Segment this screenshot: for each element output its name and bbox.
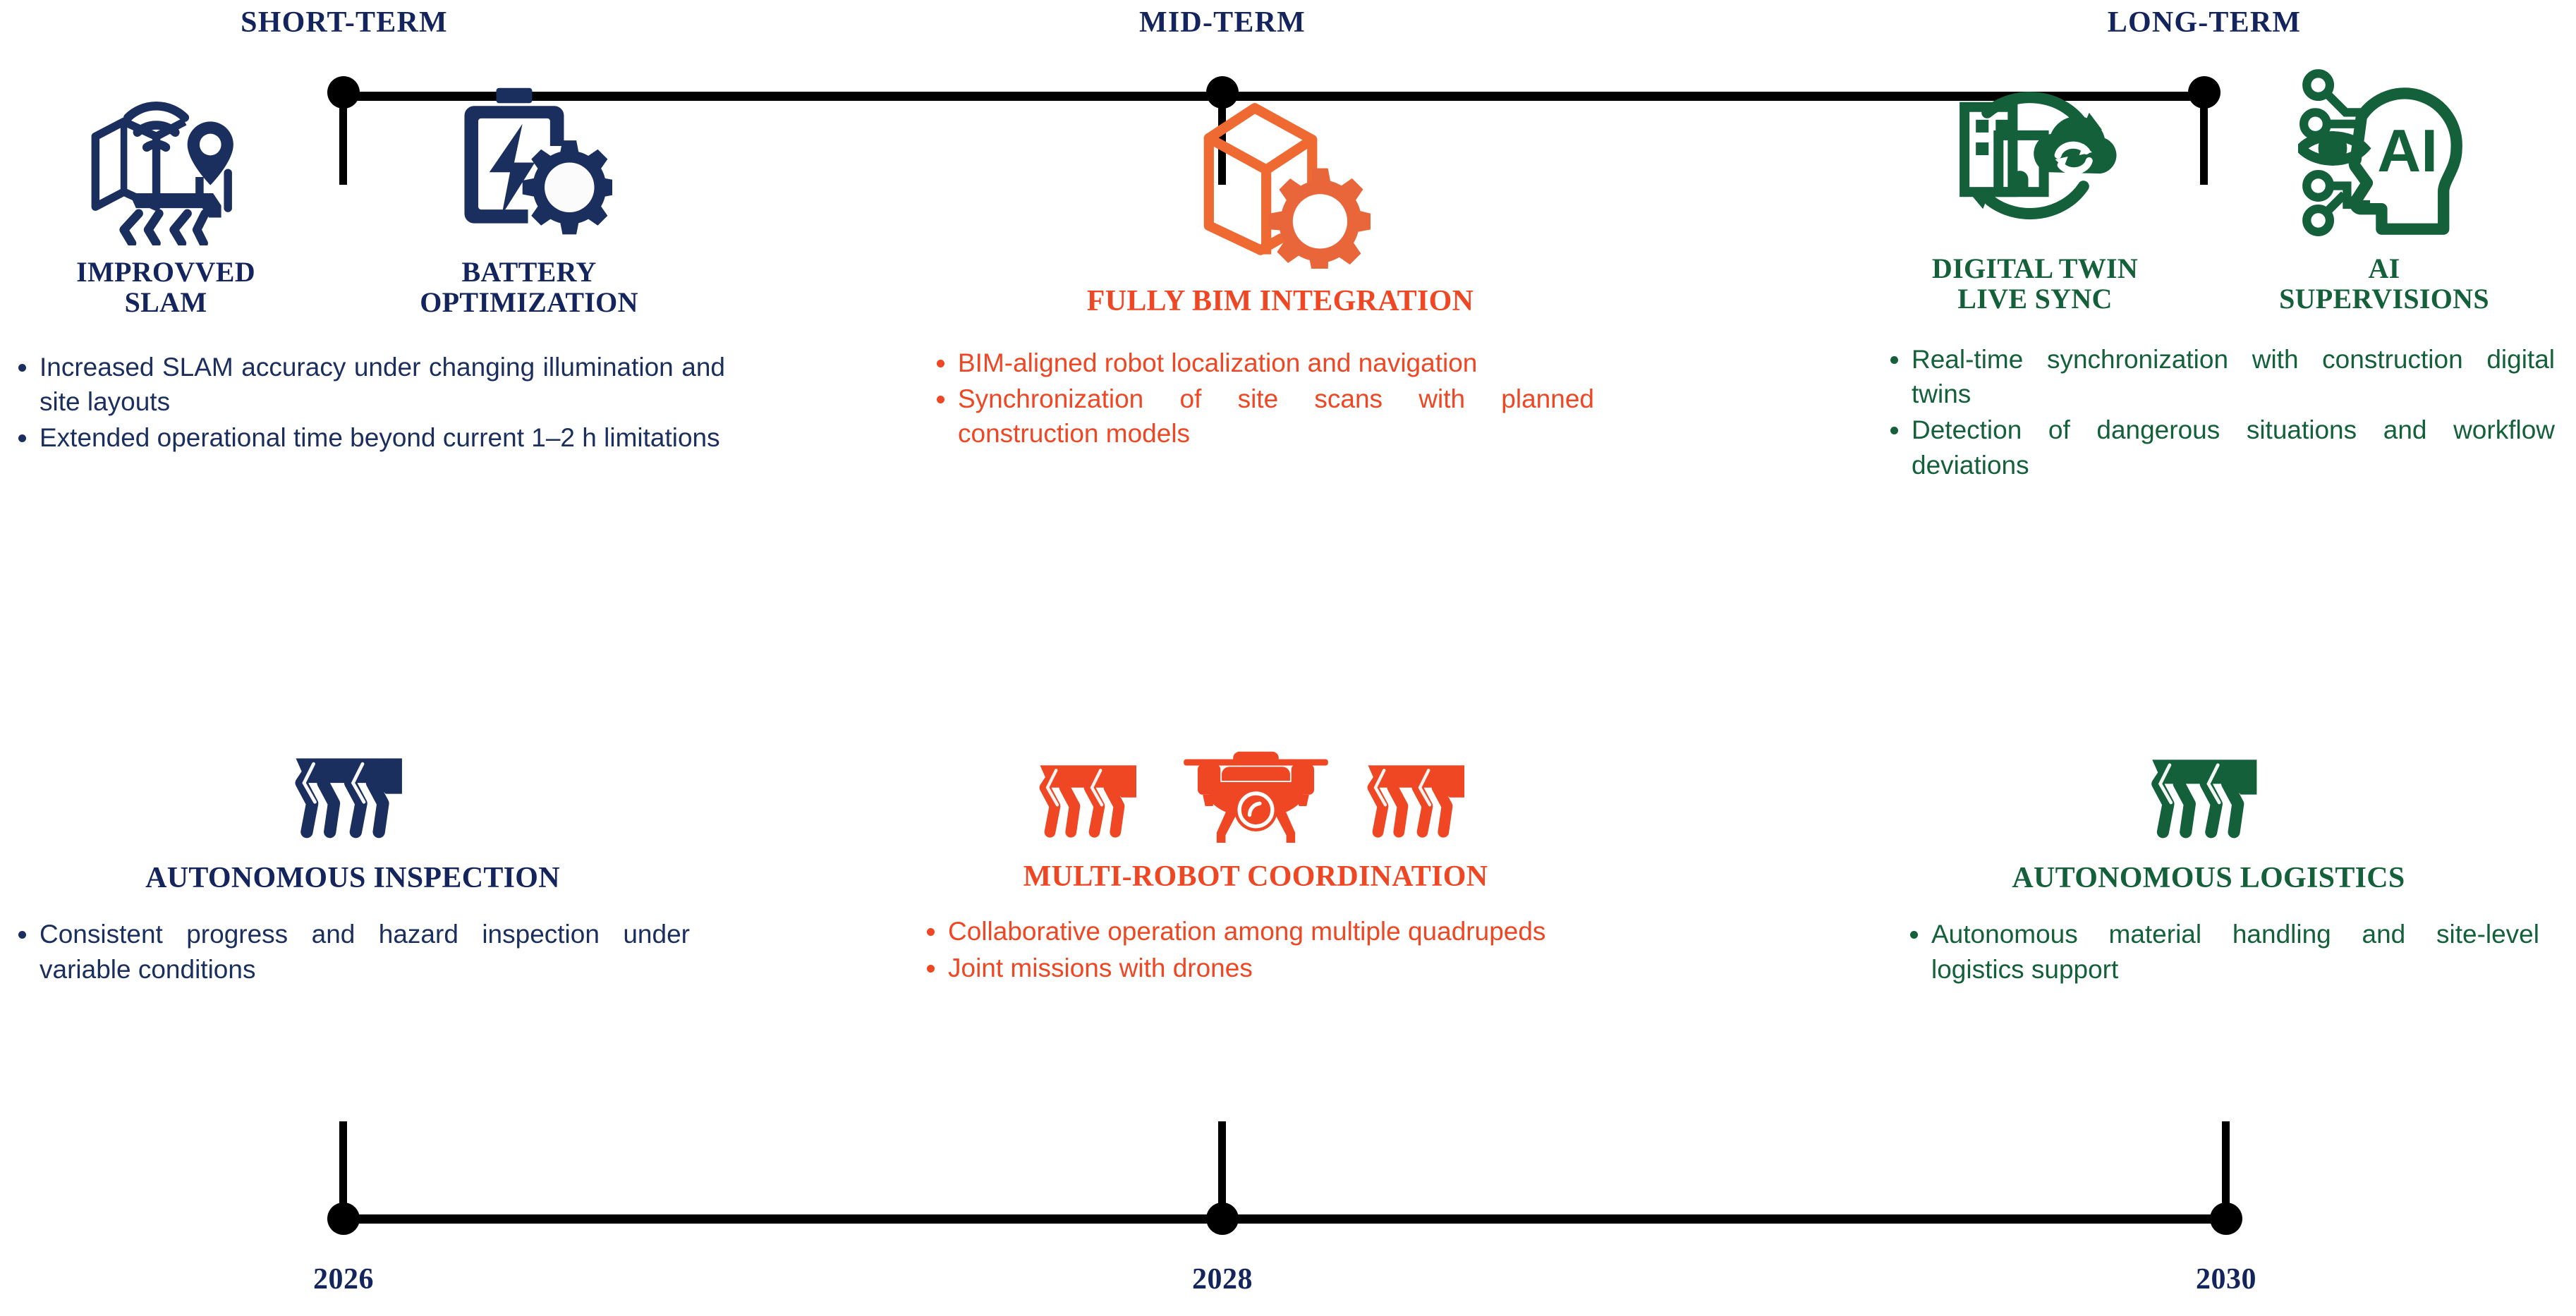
list-item: BIM-aligned robot localization and navig…: [931, 346, 1594, 380]
list-item: Detection of dangerous situations and wo…: [1885, 413, 2555, 482]
long-term-group: DIGITAL TWIN LIVE SYNC: [1869, 138, 2576, 484]
card-fully-bim-integration[interactable]: FULLY BIM INTEGRATION: [963, 99, 1598, 317]
autonomous-inspection-bullets: Consistent progress and hazard inspectio…: [13, 917, 690, 986]
list-item: Joint missions with drones: [921, 951, 1598, 985]
card-title: FULLY BIM INTEGRATION: [963, 286, 1598, 317]
card-improved-slam[interactable]: IMPROVVED SLAM: [49, 76, 282, 317]
phase-label-mid-term: MID-TERM: [1081, 6, 1363, 39]
svg-text:AI: AI: [2377, 117, 2438, 185]
autonomous-inspection-group: AUTONOMOUS INSPECTION Consistent progres…: [0, 748, 705, 988]
quadruped-robot-icon: [270, 748, 436, 843]
card-title: BATTERY OPTIMIZATION: [395, 257, 663, 317]
multi-robot-coordination-bullets: Collaborative operation among multiple q…: [921, 914, 1598, 985]
bottom-node-2028: [1206, 1202, 1239, 1235]
list-item: Collaborative operation among multiple q…: [921, 914, 1598, 949]
card-title: IMPROVVED SLAM: [49, 257, 282, 317]
year-label-2026: 2026: [202, 1262, 485, 1296]
quadruped-robot-icon: [2127, 749, 2290, 843]
bottom-node-2030: [2210, 1202, 2242, 1235]
multi-robot-coordination-group: MULTI-ROBOT COORDINATION Collaborative o…: [868, 744, 1644, 987]
mid-term-group: FULLY BIM INTEGRATION BIM-aligned robot …: [917, 138, 1644, 453]
card-title-multi-robot-coordination: MULTI-ROBOT COORDINATION: [868, 861, 1644, 893]
battery-gear-icon: [446, 80, 612, 245]
year-label-2028: 2028: [1081, 1262, 1363, 1296]
phase-label-short-term: SHORT-TERM: [203, 6, 485, 39]
building-cloud-sync-icon: [1942, 75, 2129, 238]
list-item: Extended operational time beyond current…: [13, 420, 725, 455]
quadruped-robot-icon: [1346, 755, 1494, 843]
card-title: DIGITAL TWIN LIVE SYNC: [1897, 253, 2173, 314]
bim-cube-gear-icon: [1191, 99, 1371, 269]
bottom-timeline-rail: [344, 1214, 2234, 1224]
list-item: Increased SLAM accuracy under changing i…: [13, 350, 725, 419]
quadruped-robot-icon: [1018, 755, 1166, 843]
card-digital-twin-live-sync[interactable]: DIGITAL TWIN LIVE SYNC: [1897, 75, 2173, 314]
autonomous-logistics-bullets: Autonomous material handling and site-le…: [1904, 917, 2539, 986]
autonomous-logistics-group: AUTONOMOUS LOGISTICS Autonomous material…: [1855, 748, 2562, 988]
long-term-bullets: Real-time synchronization with construct…: [1885, 342, 2555, 482]
short-term-group: IMPROVVED SLAM BATTERY OPTIMIZATION Incr…: [0, 138, 748, 457]
year-label-2030: 2030: [2085, 1262, 2367, 1296]
list-item: Real-time synchronization with construct…: [1885, 342, 2555, 411]
list-item: Consistent progress and hazard inspectio…: [13, 917, 690, 986]
list-item: Autonomous material handling and site-le…: [1904, 917, 2539, 986]
list-item: Synchronization of site scans with plann…: [931, 382, 1594, 451]
card-title: AI SUPERVISIONS: [2236, 253, 2532, 314]
map-slam-robot-icon: [85, 76, 247, 245]
bottom-node-2026: [327, 1202, 360, 1235]
card-battery-optimization[interactable]: BATTERY OPTIMIZATION: [395, 80, 663, 317]
mid-term-bullets: BIM-aligned robot localization and navig…: [931, 346, 1594, 451]
ai-head-eye-icon: AI: [2298, 65, 2471, 238]
card-title-autonomous-inspection: AUTONOMOUS INSPECTION: [0, 863, 705, 894]
drone-icon: [1173, 744, 1339, 843]
short-term-bullets: Increased SLAM accuracy under changing i…: [13, 350, 725, 456]
card-title-autonomous-logistics: AUTONOMOUS LOGISTICS: [1855, 863, 2562, 894]
card-ai-supervisions[interactable]: AI AI SUPERVISIONS: [2236, 65, 2532, 314]
phase-label-long-term: LONG-TERM: [2063, 6, 2345, 39]
